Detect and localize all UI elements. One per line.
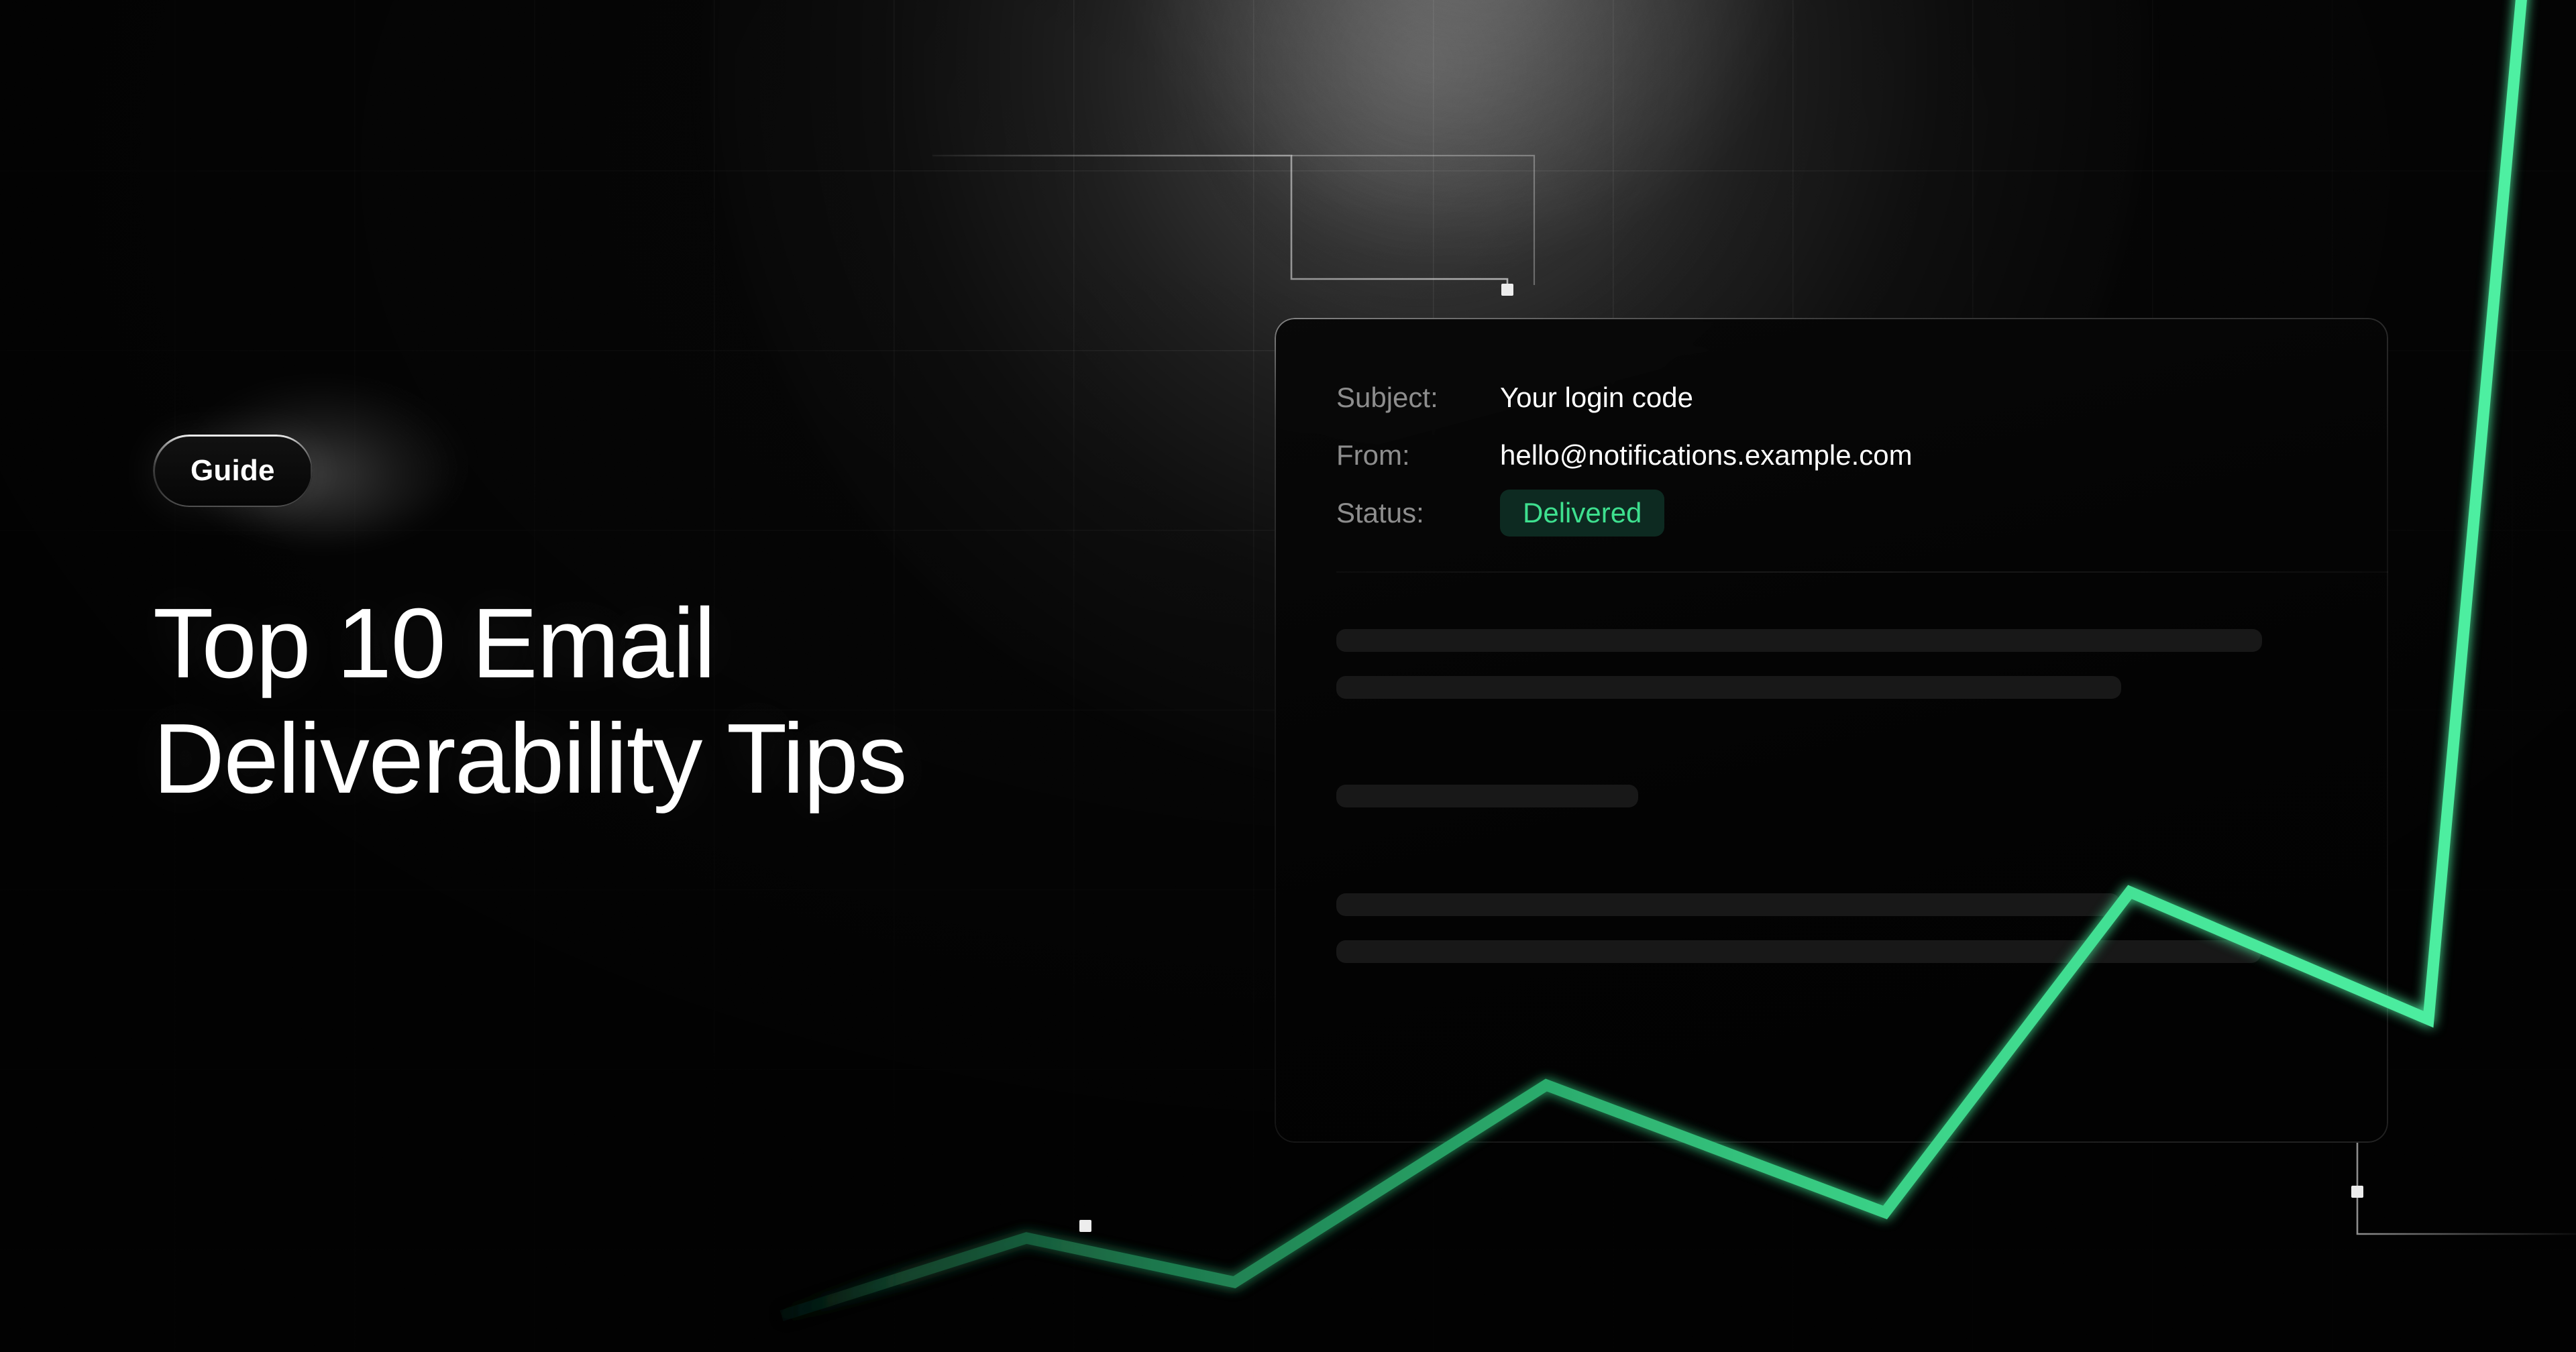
guide-badge-label: Guide [191, 454, 275, 488]
page-title-line-1: Top 10 Email [153, 586, 1159, 701]
email-field-from: From: hello@notifications.example.com [1336, 427, 2388, 484]
guide-badge[interactable]: Guide [153, 435, 313, 507]
body-placeholder-line [1336, 629, 2262, 652]
body-placeholder-line [1336, 940, 2261, 963]
email-field-subject: Subject: Your login code [1336, 369, 2388, 427]
hero-content: Guide Top 10 Email Deliverability Tips [153, 435, 1226, 816]
hero-banner: Guide Top 10 Email Deliverability Tips S… [0, 0, 2576, 1352]
email-field-subject-value: Your login code [1500, 382, 1693, 414]
email-preview-card: Subject: Your login code From: hello@not… [1275, 318, 2388, 1143]
body-placeholder-line [1336, 676, 2121, 699]
email-card-header: Subject: Your login code From: hello@not… [1275, 318, 2388, 573]
body-placeholder-line [1336, 785, 1638, 807]
email-field-from-label: From: [1336, 439, 1500, 471]
page-title: Top 10 Email Deliverability Tips [153, 586, 1159, 816]
page-title-line-2: Deliverability Tips [153, 701, 1159, 817]
status-badge: Delivered [1500, 490, 1664, 537]
email-field-from-value: hello@notifications.example.com [1500, 439, 1913, 471]
email-card-body [1275, 573, 2388, 963]
email-field-status-label: Status: [1336, 497, 1500, 529]
email-field-subject-label: Subject: [1336, 382, 1500, 414]
body-placeholder-line [1336, 893, 2120, 916]
email-field-status: Status: Delivered [1336, 484, 2388, 542]
